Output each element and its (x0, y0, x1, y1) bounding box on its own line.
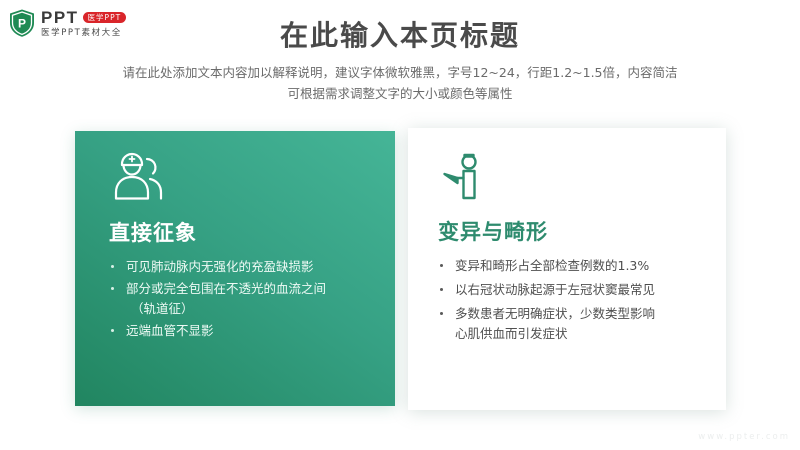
card-direct-signs-heading: 直接征象 (109, 217, 379, 247)
list-item: 可见肺动脉内无强化的充盈缺损影 (109, 257, 379, 277)
list-item-text-cont: 心肌供血而引发症状 (455, 324, 710, 344)
list-item-text: 可见肺动脉内无强化的充盈缺损影 (126, 259, 314, 274)
list-item-text: 以右冠状动脉起源于左冠状窦最常见 (455, 282, 655, 297)
person-pointing-icon (438, 150, 710, 208)
list-item: 以右冠状动脉起源于左冠状窦最常见 (438, 280, 710, 300)
list-item: 多数患者无明确症状，少数类型影响 心肌供血而引发症状 (438, 304, 710, 344)
card-variation-deformity-body: 变异与畸形 变异和畸形占全部检查例数的1.3% 以右冠状动脉起源于左冠状窦最常见… (438, 150, 710, 348)
card-direct-signs-bullets: 可见肺动脉内无强化的充盈缺损影 部分或完全包围在不透光的血流之间 （轨道征） 远… (109, 257, 379, 341)
card-variation-deformity[interactable]: 变异与畸形 变异和畸形占全部检查例数的1.3% 以右冠状动脉起源于左冠状窦最常见… (408, 128, 726, 410)
list-item-text: 部分或完全包围在不透光的血流之间 (126, 281, 326, 296)
list-item-text: 多数患者无明确症状，少数类型影响 (455, 306, 655, 321)
bullet-dot-icon (440, 288, 443, 291)
bullet-dot-icon (440, 312, 443, 315)
bullet-dot-icon (111, 329, 114, 332)
list-item: 部分或完全包围在不透光的血流之间 （轨道征） (109, 279, 379, 319)
list-item: 远端血管不显影 (109, 321, 379, 341)
list-item-text: 远端血管不显影 (126, 323, 214, 338)
list-item: 变异和畸形占全部检查例数的1.3% (438, 256, 710, 276)
card-variation-deformity-heading: 变异与畸形 (438, 216, 710, 246)
list-item-text-cont: （轨道征） (126, 299, 379, 319)
card-direct-signs[interactable]: 直接征象 可见肺动脉内无强化的充盈缺损影 部分或完全包围在不透光的血流之间 （轨… (75, 131, 395, 406)
content-cards: 直接征象 可见肺动脉内无强化的充盈缺损影 部分或完全包围在不透光的血流之间 （轨… (0, 0, 800, 450)
list-item-text: 变异和畸形占全部检查例数的1.3% (455, 258, 649, 273)
bullet-dot-icon (111, 287, 114, 290)
bullet-dot-icon (440, 264, 443, 267)
card-variation-deformity-bullets: 变异和畸形占全部检查例数的1.3% 以右冠状动脉起源于左冠状窦最常见 多数患者无… (438, 256, 710, 344)
doctor-icon (109, 151, 379, 209)
card-direct-signs-body: 直接征象 可见肺动脉内无强化的充盈缺损影 部分或完全包围在不透光的血流之间 （轨… (109, 151, 379, 343)
site-watermark: www.ppter.com (698, 432, 790, 442)
bullet-dot-icon (111, 265, 114, 268)
